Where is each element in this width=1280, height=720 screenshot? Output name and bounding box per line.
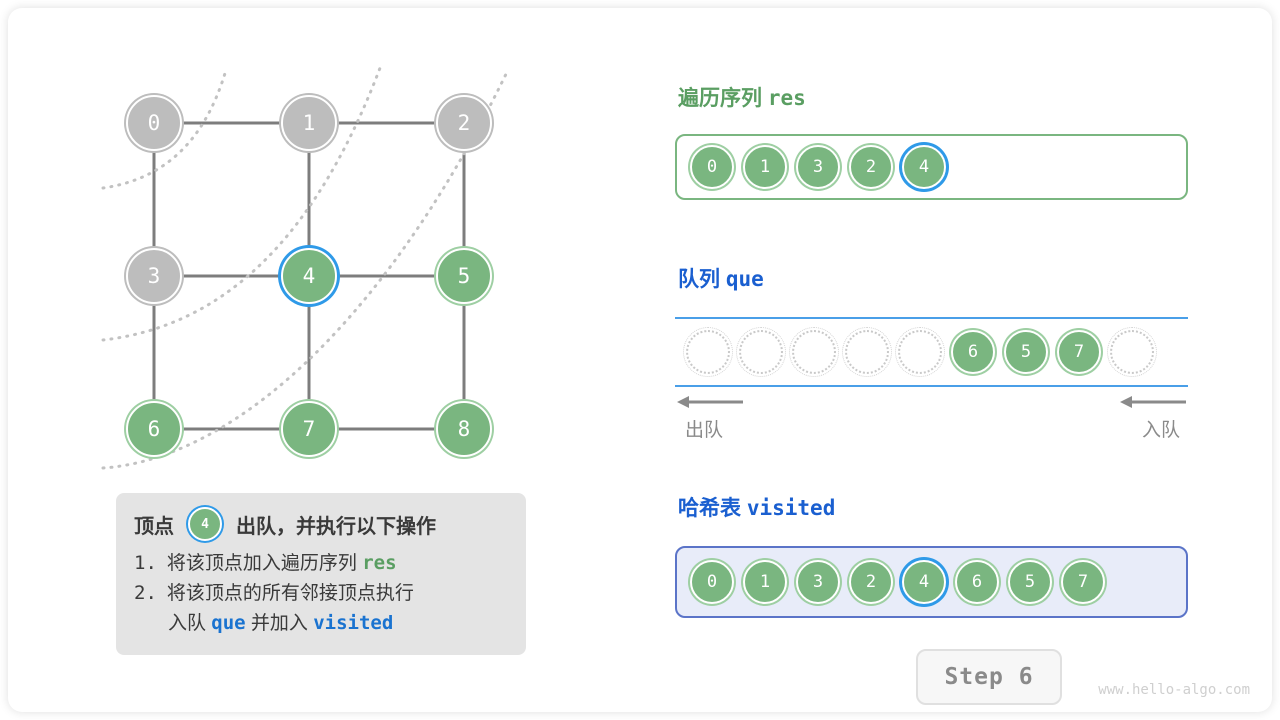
graph-node-4: 4: [281, 248, 337, 304]
queue-slot-6: 5: [1004, 330, 1048, 374]
caption-head-suffix: 出队，并执行以下操作: [236, 510, 436, 539]
caption-heading: 顶点 4 出队，并执行以下操作: [134, 507, 508, 541]
caption-item-2-text: 将该顶点的所有邻接顶点执行: [167, 580, 414, 609]
caption-box: 顶点 4 出队，并执行以下操作 1. 将该顶点加入遍历序列 res 2. 将该顶…: [116, 493, 526, 655]
queue-slot-4: [898, 330, 942, 374]
graph-node-6: 6: [126, 401, 182, 457]
dequeue-label: 出队: [685, 415, 723, 442]
queue-arrows: 出队 入队: [675, 392, 1188, 442]
caption-item-2-cont: 入队 que 并加入 visited: [134, 609, 508, 639]
watermark: www.hello-algo.com: [1098, 682, 1250, 698]
queue-slot-3: [845, 330, 889, 374]
res-item-3: 2: [849, 145, 893, 189]
graph-node-8: 8: [436, 401, 492, 457]
queue-slots: 657: [686, 330, 1154, 374]
queue-slot-2: [792, 330, 836, 374]
graph-node-3: 3: [126, 248, 182, 304]
queue-rail-top: [675, 317, 1188, 319]
caption-item-2: 2. 将该顶点的所有邻接顶点执行: [134, 579, 508, 609]
step-badge: Step 6: [916, 649, 1062, 705]
visited-array: 01324657: [675, 546, 1188, 618]
queue-container: 657: [675, 317, 1188, 387]
queue-rail-bottom: [675, 385, 1188, 387]
caption-item-2-text-a: 入队: [168, 613, 206, 634]
visited-item-4: 4: [902, 560, 946, 604]
visited-item-2: 3: [796, 560, 840, 604]
visited-item-7: 7: [1061, 560, 1105, 604]
que-title-code: que: [726, 267, 764, 291]
caption-item-2-code-que: que: [211, 612, 245, 634]
res-title-code: res: [768, 86, 806, 110]
graph-node-2: 2: [436, 95, 492, 151]
graph-node-0: 0: [126, 95, 182, 151]
caption-item-1-num: 1.: [134, 549, 157, 578]
que-title-cn: 队列: [678, 268, 720, 291]
queue-slot-1: [739, 330, 783, 374]
res-panel-title: 遍历序列 res: [678, 82, 806, 112]
visited-item-6: 5: [1008, 560, 1052, 604]
caption-item-2-code-visited: visited: [313, 612, 393, 634]
res-item-4: 4: [902, 145, 946, 189]
caption-item-2-num: 2.: [134, 579, 157, 608]
graph-node-7: 7: [281, 401, 337, 457]
queue-slot-5: 6: [951, 330, 995, 374]
caption-item-1-code-res: res: [362, 552, 396, 574]
caption-item-1-text: 将该顶点加入遍历序列 res: [167, 549, 397, 579]
caption-item-1-text-a: 将该顶点加入遍历序列: [167, 553, 357, 574]
visited-title-code: visited: [747, 496, 836, 520]
dequeue-arrow-icon: [675, 392, 745, 412]
visited-item-1: 1: [743, 560, 787, 604]
que-panel-title: 队列 que: [678, 263, 764, 293]
enqueue-arrow-icon: [1118, 392, 1188, 412]
queue-slot-8: [1110, 330, 1154, 374]
graph-diagram: 012345678: [8, 8, 608, 508]
visited-title-cn: 哈希表: [678, 497, 741, 520]
res-item-2: 3: [796, 145, 840, 189]
queue-slot-0: [686, 330, 730, 374]
res-item-0: 0: [690, 145, 734, 189]
caption-item-1: 1. 将该顶点加入遍历序列 res: [134, 549, 508, 579]
caption-item-2-text-b: 并加入: [251, 613, 308, 634]
caption-item-2-cont-text: 入队 que 并加入 visited: [168, 609, 393, 639]
visited-item-0: 0: [690, 560, 734, 604]
visited-item-3: 2: [849, 560, 893, 604]
queue-slot-7: 7: [1057, 330, 1101, 374]
res-title-cn: 遍历序列: [678, 87, 762, 110]
figure-card: 012345678 顶点 4 出队，并执行以下操作 1. 将该顶点加入遍历序列 …: [8, 8, 1272, 712]
res-array: 01324: [675, 134, 1188, 200]
graph-node-1: 1: [281, 95, 337, 151]
enqueue-label: 入队: [1142, 415, 1180, 442]
caption-node-marker: 4: [188, 507, 222, 541]
graph-node-5: 5: [436, 248, 492, 304]
visited-panel-title: 哈希表 visited: [678, 492, 835, 522]
res-item-1: 1: [743, 145, 787, 189]
visited-item-5: 6: [955, 560, 999, 604]
caption-head-prefix: 顶点: [134, 510, 174, 539]
